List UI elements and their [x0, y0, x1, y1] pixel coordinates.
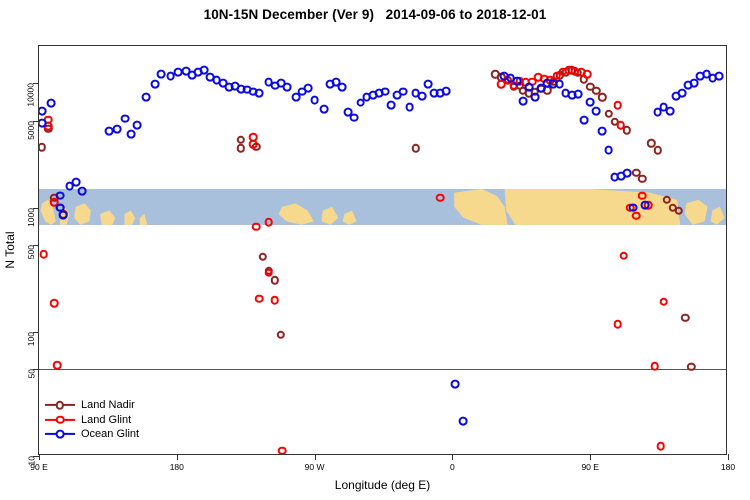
data-point [580, 115, 589, 124]
plot-frame: 1050100500100050001000090 E18090 W090 E1… [38, 45, 727, 455]
x-axis-tick [315, 454, 316, 460]
x-axis-tick [177, 454, 178, 460]
data-point [71, 178, 80, 187]
data-point [56, 191, 65, 200]
data-point [512, 77, 521, 86]
data-point [133, 121, 142, 130]
data-point [525, 82, 534, 91]
data-point [157, 70, 166, 79]
legend-swatch-land-nadir [45, 398, 75, 412]
data-point [459, 417, 468, 426]
legend-label: Land Glint [75, 414, 131, 426]
data-point [39, 119, 46, 128]
data-point [120, 114, 129, 123]
x-axis-tick-label: 90 E [581, 462, 599, 472]
data-point [151, 80, 160, 89]
data-point [518, 97, 527, 106]
y-axis-tick-label: 1000 [26, 208, 36, 227]
data-point [592, 107, 601, 116]
data-point [338, 82, 347, 91]
data-point [678, 89, 687, 98]
y-axis-label: N Total [3, 45, 17, 455]
data-point [423, 80, 432, 89]
data-point [405, 103, 414, 112]
x-axis-label: Longitude (deg E) [38, 478, 727, 492]
legend-swatch-ocean-glint [45, 427, 75, 441]
data-point [451, 380, 460, 389]
y-axis-tick-label: 10000 [26, 83, 36, 107]
data-point [555, 80, 564, 89]
data-point [598, 127, 607, 136]
data-point [623, 169, 632, 178]
data-point [574, 90, 583, 99]
x-axis-tick-label: 0 [450, 462, 455, 472]
x-axis-tick-label: 180 [170, 462, 184, 472]
y-axis-tick-label: 5000 [26, 121, 36, 140]
y-axis-tick-label: 100 [26, 332, 36, 346]
data-point [39, 107, 46, 116]
data-point [381, 87, 390, 96]
data-point [714, 71, 723, 80]
legend-swatch-land-glint [45, 413, 75, 427]
data-point [641, 201, 650, 210]
legend: Land NadirLand GlintOcean Glint [45, 398, 139, 442]
x-axis-tick [39, 454, 40, 460]
data-point [113, 125, 122, 134]
y-axis-tick-label: 50 [26, 369, 36, 378]
data-point [399, 87, 408, 96]
x-axis-tick [728, 454, 729, 460]
data-point [283, 83, 292, 92]
data-point [387, 101, 396, 110]
x-axis-tick-label: 180 [721, 462, 735, 472]
series-ocean-glint [39, 46, 726, 454]
data-point [629, 203, 638, 212]
data-point [47, 99, 56, 108]
data-point [142, 93, 151, 102]
data-point [531, 92, 540, 101]
data-point [319, 105, 328, 114]
data-point [586, 97, 595, 106]
chart-title: 10N-15N December (Ver 9) 2014-09-06 to 2… [0, 7, 750, 22]
data-point [442, 86, 451, 95]
data-point [255, 88, 264, 97]
x-axis-tick [590, 454, 591, 460]
x-axis-tick-label: 90 E [30, 462, 48, 472]
legend-label: Land Nadir [75, 399, 135, 411]
data-point [604, 146, 613, 155]
data-point [350, 113, 359, 122]
data-point [417, 92, 426, 101]
data-point [59, 211, 68, 220]
chart-root: 10N-15N December (Ver 9) 2014-09-06 to 2… [0, 0, 750, 500]
data-point [126, 130, 135, 139]
plot-area [39, 46, 726, 454]
y-axis-label-text: N Total [3, 231, 17, 268]
data-point [304, 84, 313, 93]
data-point [77, 187, 86, 196]
legend-label: Ocean Glint [75, 428, 139, 440]
legend-item-ocean-glint[interactable]: Ocean Glint [45, 427, 139, 442]
legend-item-land-nadir[interactable]: Land Nadir [45, 398, 139, 413]
data-point [310, 96, 319, 105]
x-axis-tick [452, 454, 453, 460]
x-axis-tick-label: 90 W [305, 462, 325, 472]
legend-item-land-glint[interactable]: Land Glint [45, 413, 139, 428]
data-point [665, 107, 674, 116]
y-axis-tick-label: 500 [26, 245, 36, 259]
